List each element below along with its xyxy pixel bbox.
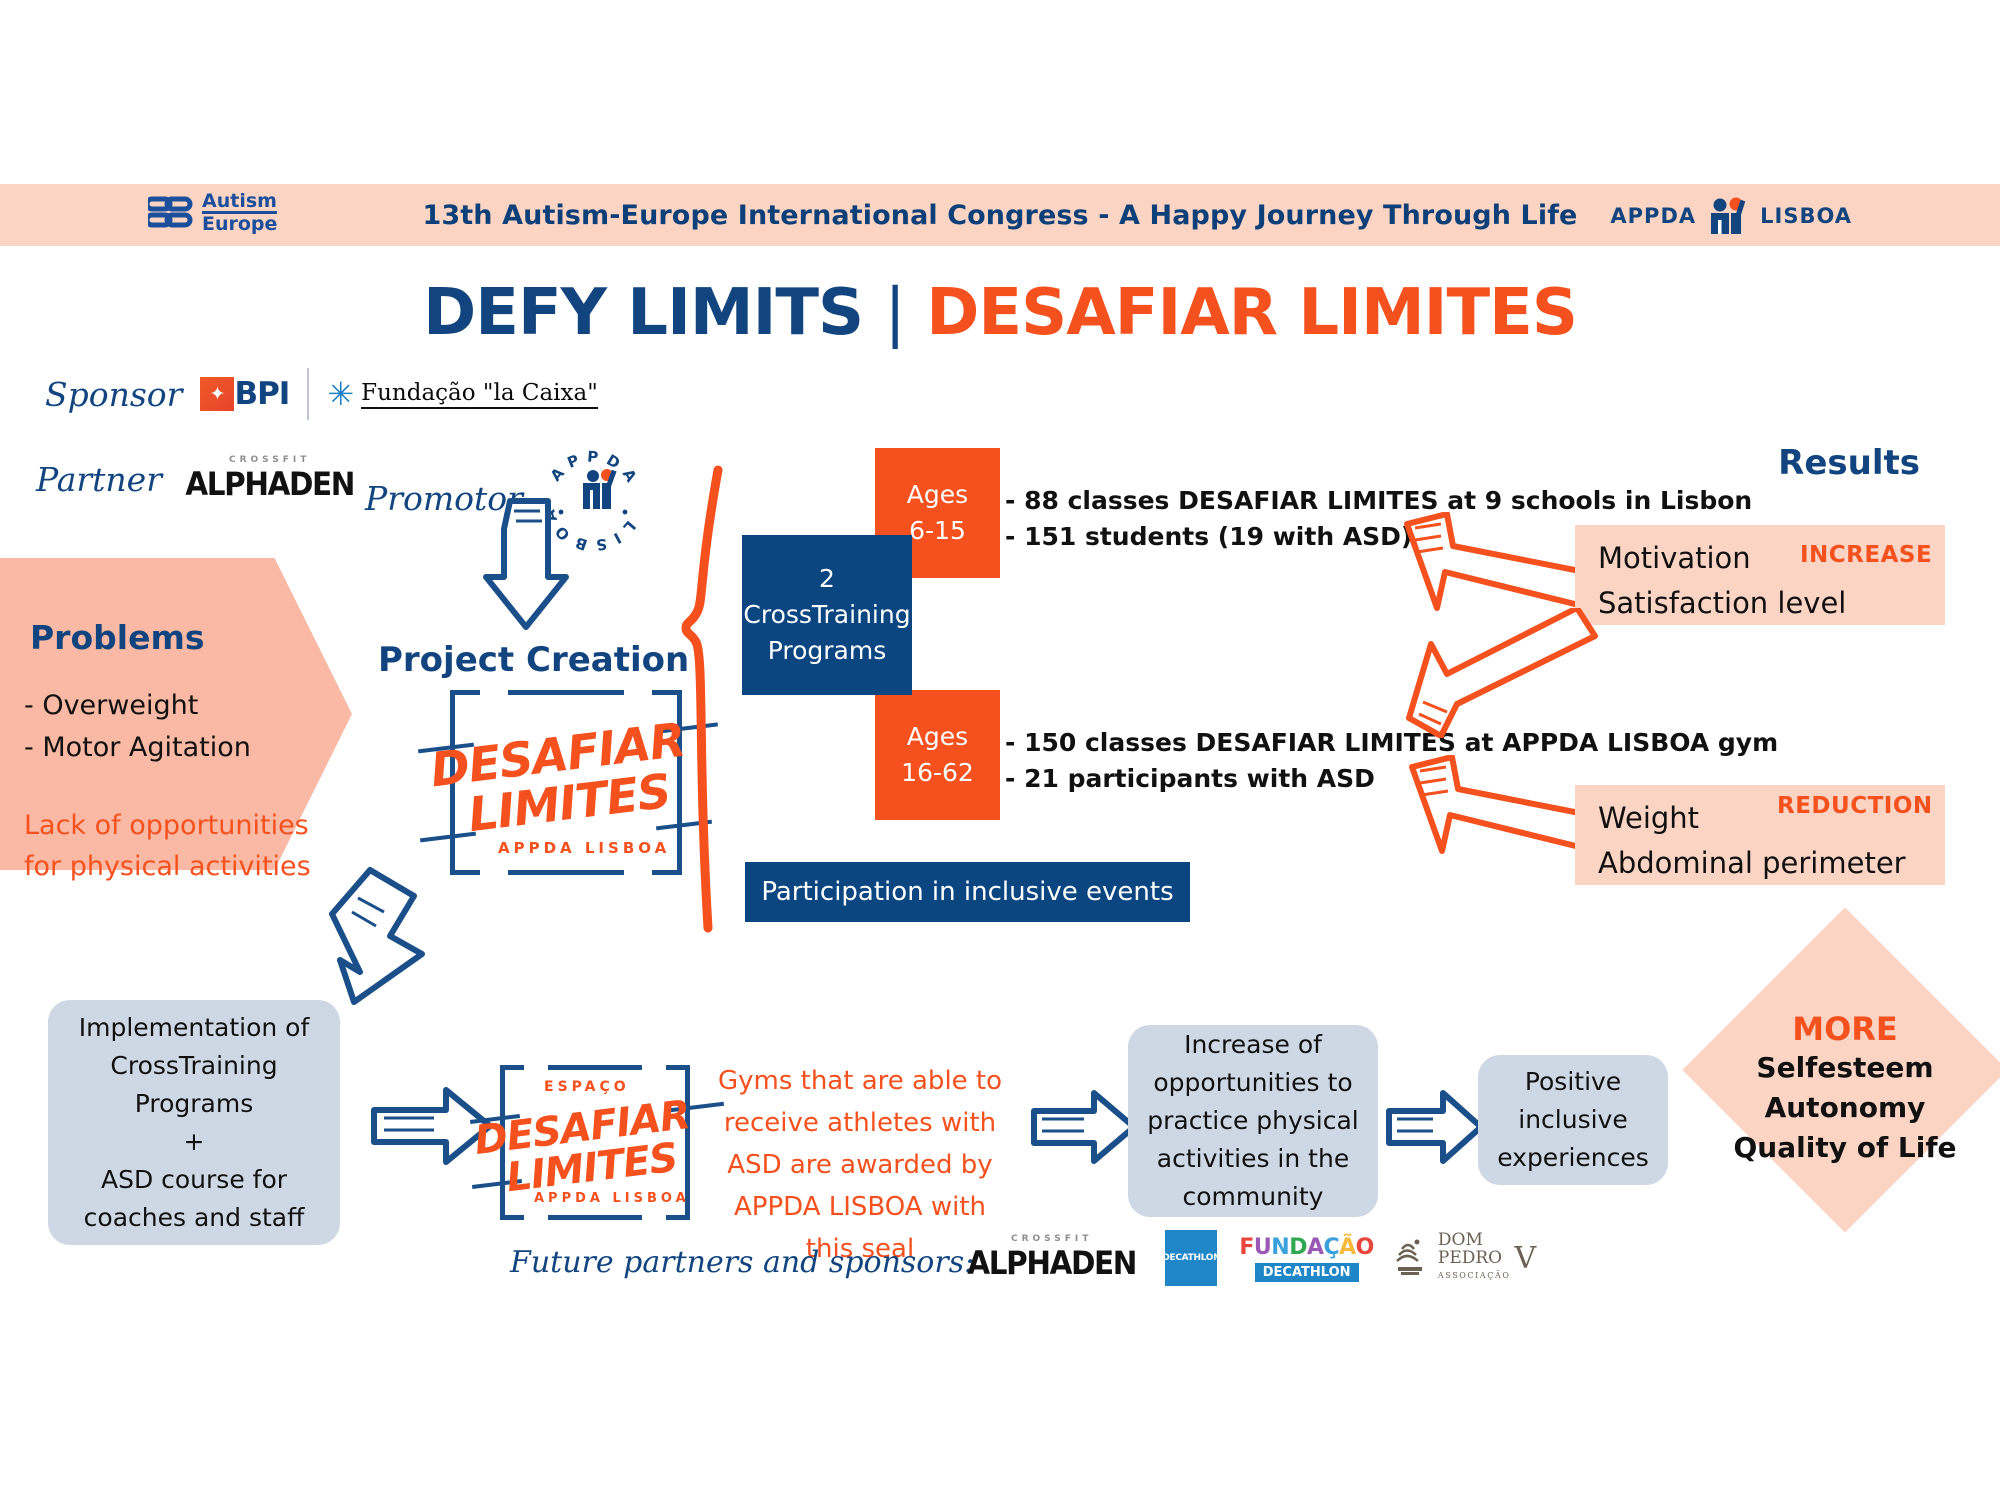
implementation-box: Implementation of CrossTraining Programs… [48, 1000, 340, 1245]
logo-sub-appda-lisboa: APPDA LISBOA [498, 839, 670, 857]
dompedro-line2: PEDRO [1438, 1249, 1511, 1267]
footer-logos-row: CROSSFIT ALPHADEN DECATHLON FUNDAÇÃO DEC… [960, 1230, 1536, 1286]
programs-name: CrossTraining [743, 597, 910, 633]
pos-line-3: experiences [1497, 1139, 1649, 1177]
problems-list: - Overweight - Motor Agitation [24, 685, 251, 769]
espaco-gap-tl [524, 1059, 548, 1071]
opp-line-5: community [1147, 1178, 1359, 1216]
espaco-gap-bl [524, 1214, 548, 1226]
autism-europe-mark [148, 193, 194, 233]
fundacao-la-caixa-logo: ✳ Fundação "la Caixa" [327, 378, 597, 410]
opp-line-1: Increase of [1147, 1026, 1359, 1064]
arrow-caption-to-opportunities [1030, 1085, 1140, 1165]
impl-line-plus: + [79, 1123, 310, 1161]
impl-line-1: Implementation of [79, 1009, 310, 1047]
opp-line-2: opportunities to [1147, 1064, 1359, 1102]
arrow-promotor-to-project [470, 495, 580, 645]
footer-alphaden-wordmark: ALPHADEN [967, 1244, 1136, 1282]
fundacao-decathlon-chip: DECATHLON [1255, 1263, 1359, 1282]
frame-gap-bl [480, 869, 508, 881]
increase-opportunities-box: Increase of opportunities to practice ph… [1128, 1025, 1378, 1217]
partner-row: Partner CROSSFIT ALPHADEN [36, 455, 361, 503]
impl-line-5: coaches and staff [79, 1199, 310, 1237]
frame-gap-left [480, 684, 508, 696]
problems-title: Problems [30, 618, 204, 657]
espaco-label: ESPAÇO [544, 1079, 630, 1095]
frame-gap-br [624, 869, 652, 881]
reduction-badge: REDUCTION [1777, 793, 1933, 819]
ae-line-europe: Europe [202, 215, 277, 233]
desafiar-limites-logo: DESAFIAR LIMITES APPDA LISBOA [450, 690, 682, 875]
bpi-logo: ✦ BPI [200, 376, 289, 412]
fundacao-letter-c: Ç [1323, 1235, 1339, 1260]
crosstraining-programs-box: 2 CrossTraining Programs [742, 535, 912, 695]
footer-alphaden-logo: CROSSFIT ALPHADEN [960, 1234, 1143, 1282]
impl-line-2: CrossTraining [79, 1047, 310, 1085]
more-content: MORE Selfesteem Autonomy Quality of Life [1700, 1010, 1990, 1168]
page-title: DEFY LIMITS | DESAFIAR LIMITES [0, 276, 2000, 350]
espaco-gap-tr [642, 1059, 666, 1071]
fundacao-wordmark: FUNDAÇÃO [1239, 1235, 1374, 1260]
impl-line-3: Programs [79, 1085, 310, 1123]
dom-pedro-v-logo: DOM PEDRO ASSOCIAÇÃO V [1396, 1231, 1536, 1285]
inclusive-events-box: Participation in inclusive events [745, 862, 1190, 922]
appda-lisboa-header-logo: APPDA LISBOA [1610, 196, 1852, 236]
fundacao-letter-n: N [1271, 1235, 1289, 1260]
more-item-autonomy: Autonomy [1700, 1088, 1990, 1128]
caixa-wordmark: Fundação "la Caixa" [361, 380, 598, 409]
partner-label: Partner [36, 460, 162, 499]
age-range-2: 16-62 [901, 755, 974, 791]
autism-europe-logo: Autism Europe [148, 192, 277, 233]
more-item-quality: Quality of Life [1700, 1128, 1990, 1168]
positive-experiences-box: Positive inclusive experiences [1478, 1055, 1668, 1185]
ae-line-autism: Autism [202, 192, 277, 210]
fundacao-letter-a: A [1307, 1235, 1324, 1260]
increase-badge: INCREASE [1800, 542, 1932, 568]
bpi-mark-icon: ✦ [200, 377, 234, 411]
future-partners-label: Future partners and sponsors: [510, 1245, 974, 1280]
bullet-150-classes: - 150 classes DESAFIAR LIMITES at APPDA … [1005, 725, 1778, 761]
programs-count: 2 [743, 561, 910, 597]
age-group-box-2: Ages 16-62 [875, 690, 1000, 820]
espaco-sub-appda-lisboa: APPDA LISBOA [534, 1191, 690, 1206]
sponsor-label: Sponsor [45, 375, 182, 414]
sponsor-row: Sponsor ✦ BPI ✳ Fundação "la Caixa" [45, 368, 598, 420]
project-creation-title: Project Creation [378, 640, 689, 680]
espaco-desafiar-limites-seal: ESPAÇO DESAFIAR LIMITES APPDA LISBOA [500, 1065, 690, 1220]
problem-item-overweight: - Overweight [24, 685, 251, 727]
results-title: Results [1778, 443, 1920, 483]
appda-label: APPDA [1610, 204, 1696, 228]
dom-pedro-wordmark: DOM PEDRO ASSOCIAÇÃO [1438, 1231, 1511, 1285]
arrow-opportunities-to-experiences [1385, 1085, 1485, 1165]
increase-line-satisfaction: Satisfaction level [1598, 581, 1846, 626]
opp-line-4: activities in the [1147, 1140, 1359, 1178]
caixa-star-icon: ✳ [327, 378, 354, 410]
programs-word: Programs [743, 633, 910, 669]
age-label-1: Ages [907, 477, 968, 513]
sponsor-divider [307, 368, 309, 420]
alphaden-logo: CROSSFIT ALPHADEN [178, 455, 361, 503]
footer-alphaden-tagline: CROSSFIT [1011, 1234, 1092, 1244]
dompedro-sub: ASSOCIAÇÃO [1438, 1267, 1511, 1285]
dompedro-numeral: V [1515, 1241, 1537, 1276]
fundacao-letter-a2: Ã [1339, 1235, 1356, 1260]
arrow-to-increase-box-2 [1395, 608, 1625, 738]
bullet-88-classes: - 88 classes DESAFIAR LIMITES at 9 schoo… [1005, 483, 1752, 519]
frame-gap-right [624, 684, 652, 696]
reduction-line-abdominal: Abdominal perimeter [1598, 841, 1906, 886]
more-item-selfesteem: Selfesteem [1700, 1048, 1990, 1088]
fundacao-letter-d: D [1289, 1235, 1307, 1260]
title-portuguese: DESAFIAR LIMITES [926, 276, 1577, 350]
alphaden-wordmark: ALPHADEN [185, 465, 354, 503]
arrow-problems-to-implementation [318, 862, 468, 1032]
problems-note: Lack of opportunities for physical activ… [24, 805, 344, 887]
title-english: DEFY LIMITS [423, 276, 863, 350]
autism-europe-wordmark: Autism Europe [202, 192, 277, 233]
title-separator: | [884, 276, 905, 350]
fundacao-letter-f: F [1239, 1235, 1254, 1260]
alphaden-tagline: CROSSFIT [229, 455, 310, 465]
two-people-icon [1705, 196, 1751, 236]
problem-item-motor-agitation: - Motor Agitation [24, 727, 251, 769]
impl-line-4: ASD course for [79, 1161, 310, 1199]
dom-pedro-crown-icon [1396, 1237, 1434, 1279]
fundacao-letter-u: U [1254, 1235, 1271, 1260]
more-list: Selfesteem Autonomy Quality of Life [1700, 1048, 1990, 1168]
more-label: MORE [1700, 1010, 1990, 1048]
bpi-wordmark: BPI [234, 376, 289, 412]
age-range-1: 6-15 [907, 513, 968, 549]
pos-line-2: inclusive [1497, 1101, 1649, 1139]
dompedro-line1: DOM [1438, 1231, 1511, 1249]
fundacao-letter-o: O [1356, 1235, 1374, 1260]
espaco-gap-br [642, 1214, 666, 1226]
pos-line-1: Positive [1497, 1063, 1649, 1101]
opp-line-3: practice physical [1147, 1102, 1359, 1140]
decathlon-logo: DECATHLON [1165, 1230, 1217, 1286]
age-label-2: Ages [901, 719, 974, 755]
fundacao-decathlon-logo: FUNDAÇÃO DECATHLON [1239, 1235, 1374, 1282]
lisboa-label: LISBOA [1760, 204, 1852, 228]
